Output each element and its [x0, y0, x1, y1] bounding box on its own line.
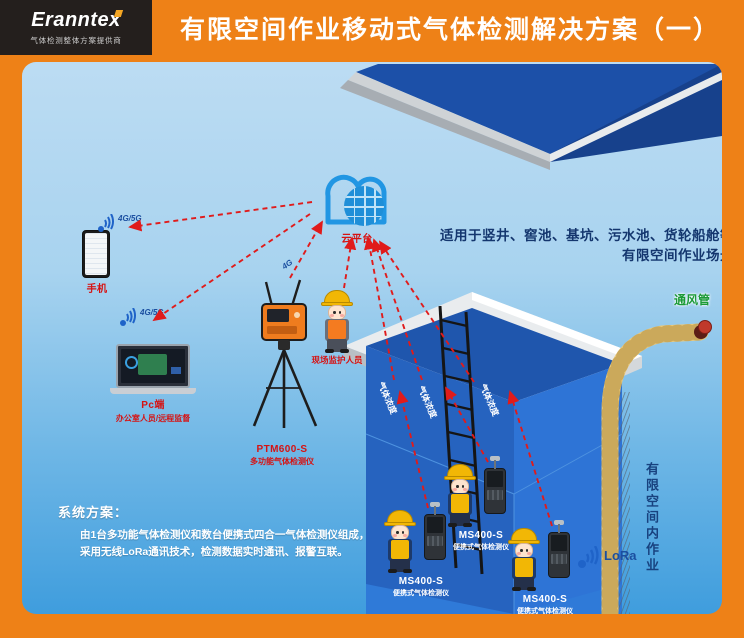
header-bar: Eranntex 气体检测整体方案提供商 有限空间作业移动式气体检测解决方案（一…: [0, 0, 744, 55]
applicability-line-2: 有限空间作业场景: [422, 246, 722, 266]
detector-right-art: [548, 532, 570, 578]
inside-work-label: 有限空间内作业: [642, 462, 661, 574]
diagram-panel: 云平台 手机 4G/5G Pc端 办公室人员/远程监督 4G/5G: [22, 62, 722, 614]
ptm600s-desc: 多功能气体检测仪: [220, 456, 344, 468]
supervisor-figure: [317, 290, 357, 352]
brand-tagline: 气体检测整体方案提供商: [30, 35, 121, 46]
system-plan-line-1: 由1台多功能气体检测仪和数台便携式四合一气体检测仪组成，: [58, 527, 374, 544]
brand-name: Eranntex: [31, 9, 121, 32]
mobile-phone-art: [82, 230, 110, 278]
worker-right-figure: [504, 528, 544, 590]
detector-right-name: MS400-S: [500, 594, 590, 606]
signal-label-pc: 4G/5G: [140, 308, 164, 317]
page-title: 有限空间作业移动式气体检测解决方案（一）: [160, 0, 740, 55]
pc-desc: 办公室人员/远程监督: [78, 413, 228, 425]
signal-icon-pc: [118, 308, 140, 326]
system-plan-block: 系统方案： 由1台多功能气体检测仪和数台便携式四合一气体检测仪组成， 采用无线L…: [58, 502, 374, 561]
cloud-platform-label: 云平台: [322, 234, 392, 246]
worker-mid-figure: [440, 464, 480, 526]
detector-left-name: MS400-S: [376, 576, 466, 588]
lora-signal-icon: [576, 546, 602, 568]
supervisor-label: 现场监护人员: [294, 354, 380, 366]
detector-mid-art: [484, 468, 506, 514]
system-plan-line-2: 采用无线LoRa通讯技术，检测数据实时通讯、报警互联。: [58, 544, 374, 561]
signal-icon-phone: [96, 214, 118, 232]
phone-label: 手机: [72, 284, 122, 296]
pc-label: Pc端: [108, 400, 198, 412]
detector-right-desc: 便携式气体检测仪: [490, 606, 600, 614]
brand-logo: Eranntex 气体检测整体方案提供商: [0, 0, 152, 55]
alarm-light-icon: [698, 320, 712, 334]
worker-left-figure: [380, 510, 420, 572]
globe-icon: [344, 186, 384, 226]
signal-label-phone: 4G/5G: [118, 214, 142, 223]
lora-label: LoRa: [604, 548, 637, 563]
detector-left-desc: 便携式气体检测仪: [366, 588, 476, 600]
poster-root: Eranntex 气体检测整体方案提供商 有限空间作业移动式气体检测解决方案（一…: [0, 0, 744, 638]
cloud-platform-icon: [318, 170, 396, 232]
duct-label: 通风管: [662, 294, 722, 306]
applicability-text: 适用于竖井、窖池、基坑、污水池、货轮船舱等 有限空间作业场景: [422, 226, 722, 266]
pc-laptop-art: [110, 344, 196, 396]
applicability-line-1: 适用于竖井、窖池、基坑、污水池、货轮船舱等: [422, 226, 722, 246]
ptm600s-name: PTM600-S: [220, 444, 344, 456]
system-plan-title: 系统方案：: [58, 502, 374, 521]
signal-label-tripod: 4G: [280, 258, 294, 271]
